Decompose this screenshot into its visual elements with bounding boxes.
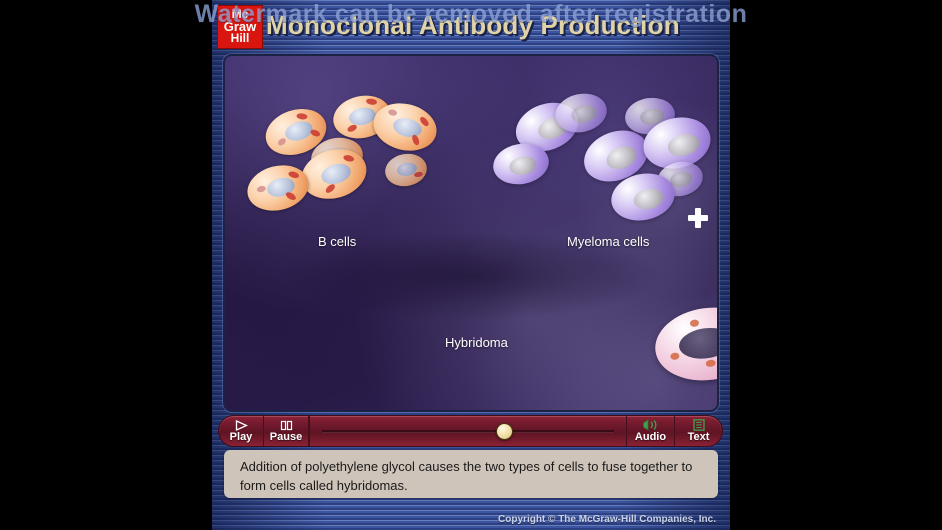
- plus-operator-icon: [688, 208, 708, 228]
- granule: [310, 128, 322, 137]
- granule: [346, 123, 358, 133]
- copyright-bar: Copyright © The McGraw-Hill Companies, I…: [212, 511, 730, 527]
- animation-stage-panel: B cells Myeloma cells Hybridoma: [223, 54, 719, 412]
- text-button[interactable]: Text: [674, 416, 722, 446]
- nucleus: [677, 325, 719, 362]
- granule: [276, 137, 287, 147]
- label-myeloma-cells: Myeloma cells: [567, 234, 649, 249]
- progress-slider[interactable]: [309, 416, 626, 446]
- mcgraw-hill-logo: Mc Graw Hill: [217, 5, 263, 49]
- logo-line-3: Hill: [231, 33, 250, 45]
- label-hybridoma: Hybridoma: [445, 335, 508, 350]
- text-button-label: Text: [688, 432, 710, 443]
- play-triangle-icon: [235, 419, 248, 431]
- pause-button-label: Pause: [270, 432, 302, 443]
- slider-track: [322, 430, 614, 433]
- nucleus: [632, 186, 666, 212]
- label-b-cells: B cells: [318, 234, 356, 249]
- page-title-text: Monoclonal Antibody Production: [266, 10, 680, 41]
- granule: [414, 171, 424, 177]
- granule: [324, 183, 336, 195]
- copyright-text: Copyright © The McGraw-Hill Companies, I…: [498, 514, 716, 525]
- granule: [256, 185, 266, 193]
- pause-button[interactable]: Pause: [264, 416, 309, 446]
- page-title: Monoclonal Antibody Production: [266, 8, 716, 42]
- pause-bars-icon: [280, 419, 293, 431]
- header-bar: Mc Graw Hill Monoclonal Antibody Product…: [212, 0, 730, 48]
- granule: [690, 319, 700, 327]
- nucleus: [508, 155, 538, 177]
- caption-panel: Addition of polyethylene glycol causes t…: [224, 450, 718, 498]
- application-window: Watermark can be removed after registrat…: [0, 0, 942, 530]
- granule: [343, 154, 355, 162]
- nucleus: [603, 142, 640, 173]
- audio-button[interactable]: Audio: [626, 416, 674, 446]
- nucleus: [666, 131, 702, 159]
- slider-knob[interactable]: [496, 423, 513, 440]
- nucleus: [319, 161, 353, 188]
- play-button-label: Play: [230, 432, 253, 443]
- playback-control-bar: Play Pause Audio: [218, 415, 723, 447]
- granule: [285, 191, 298, 202]
- granule: [366, 98, 378, 105]
- granule: [705, 359, 716, 367]
- audio-button-label: Audio: [635, 432, 666, 443]
- granule: [388, 109, 398, 117]
- play-button[interactable]: Play: [219, 416, 264, 446]
- granule: [411, 134, 421, 146]
- granule: [296, 113, 308, 120]
- text-document-icon: [693, 419, 705, 431]
- granule: [670, 352, 680, 360]
- granule: [718, 319, 719, 328]
- speaker-icon: [641, 419, 661, 431]
- nucleus: [570, 103, 598, 125]
